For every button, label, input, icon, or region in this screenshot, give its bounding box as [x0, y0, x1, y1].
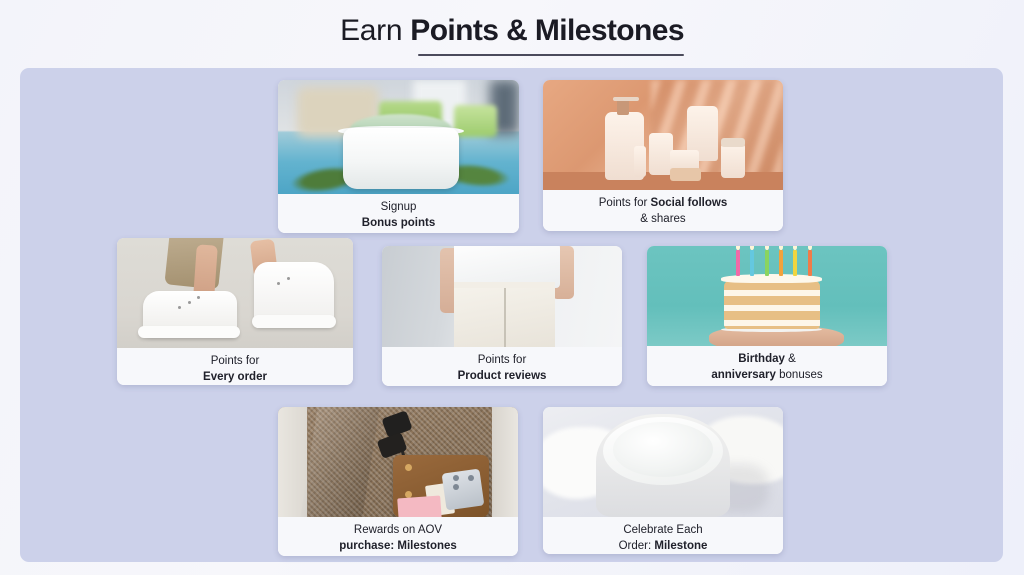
- caption-line-1: Celebrate Each: [623, 522, 702, 538]
- card-aov-milestones-caption: Rewards on AOV purchase: Milestones: [278, 517, 518, 556]
- caption-regular: Points for: [599, 197, 651, 209]
- card-every-order-caption: Points for Every order: [117, 348, 353, 385]
- caption-line-1: Signup: [381, 199, 417, 215]
- caption-bold: Every order: [203, 371, 267, 383]
- card-social-follows[interactable]: Points for Social follows & shares: [543, 80, 783, 231]
- page-title-bold: Points & Milestones: [410, 14, 684, 47]
- card-product-reviews-image: [382, 246, 622, 347]
- card-birthday-anniversary-caption: Birthday & anniversary bonuses: [647, 346, 887, 386]
- page-title: Earn Points & Milestones: [340, 13, 684, 49]
- caption-regular: &: [785, 353, 796, 365]
- caption-bold: Birthday: [738, 353, 785, 365]
- caption-line-2: Order: Milestone: [619, 538, 708, 554]
- card-birthday-anniversary[interactable]: Birthday & anniversary bonuses: [647, 246, 887, 386]
- card-every-order[interactable]: Points for Every order: [117, 238, 353, 385]
- title-underline: [418, 54, 684, 56]
- card-celebrate-milestone-caption: Celebrate Each Order: Milestone: [543, 517, 783, 554]
- card-product-reviews[interactable]: Points for Product reviews: [382, 246, 622, 386]
- caption-bold: anniversary: [711, 369, 776, 381]
- caption-bold: Social follows: [651, 197, 728, 209]
- caption-line-2: anniversary bonuses: [711, 367, 822, 383]
- caption-line-2: & shares: [640, 211, 685, 227]
- caption-regular: Points for: [211, 355, 260, 367]
- caption-line-2: Product reviews: [458, 368, 547, 384]
- caption-bold: Milestone: [654, 540, 707, 552]
- card-birthday-anniversary-image: [647, 246, 887, 346]
- caption-line-2: Every order: [203, 369, 267, 385]
- page-header: Earn Points & Milestones: [0, 0, 1024, 68]
- card-every-order-image: [117, 238, 353, 348]
- cards-panel: Signup Bonus points Points for Social fo…: [20, 68, 1003, 562]
- caption-bold: Bonus points: [362, 217, 435, 229]
- caption-regular: Signup: [381, 201, 417, 213]
- caption-regular: & shares: [640, 213, 685, 225]
- caption-bold: Product reviews: [458, 370, 547, 382]
- card-signup-caption: Signup Bonus points: [278, 194, 519, 233]
- title-wrap: Earn Points & Milestones: [340, 13, 684, 56]
- card-signup[interactable]: Signup Bonus points: [278, 80, 519, 233]
- caption-line-1: Rewards on AOV: [354, 522, 442, 538]
- card-celebrate-milestone[interactable]: Celebrate Each Order: Milestone: [543, 407, 783, 554]
- card-product-reviews-caption: Points for Product reviews: [382, 347, 622, 386]
- caption-line-1: Birthday &: [738, 351, 796, 367]
- caption-regular: Rewards on AOV: [354, 524, 442, 536]
- caption-regular: bonuses: [776, 369, 823, 381]
- caption-line-1: Points for Social follows: [599, 195, 727, 211]
- page-title-thin: Earn: [340, 14, 410, 47]
- caption-regular: Points for: [478, 354, 527, 366]
- card-signup-image: [278, 80, 519, 194]
- card-celebrate-milestone-image: [543, 407, 783, 517]
- caption-line-1: Points for: [211, 353, 260, 369]
- caption-regular: Order:: [619, 540, 655, 552]
- caption-bold: purchase: Milestones: [339, 540, 457, 552]
- caption-line-1: Points for: [478, 352, 527, 368]
- card-aov-milestones-image: [278, 407, 518, 517]
- card-aov-milestones[interactable]: Rewards on AOV purchase: Milestones: [278, 407, 518, 556]
- card-social-follows-image: [543, 80, 783, 190]
- caption-line-2: purchase: Milestones: [339, 538, 457, 554]
- caption-line-2: Bonus points: [362, 215, 435, 231]
- caption-regular: Celebrate Each: [623, 524, 702, 536]
- card-social-follows-caption: Points for Social follows & shares: [543, 190, 783, 231]
